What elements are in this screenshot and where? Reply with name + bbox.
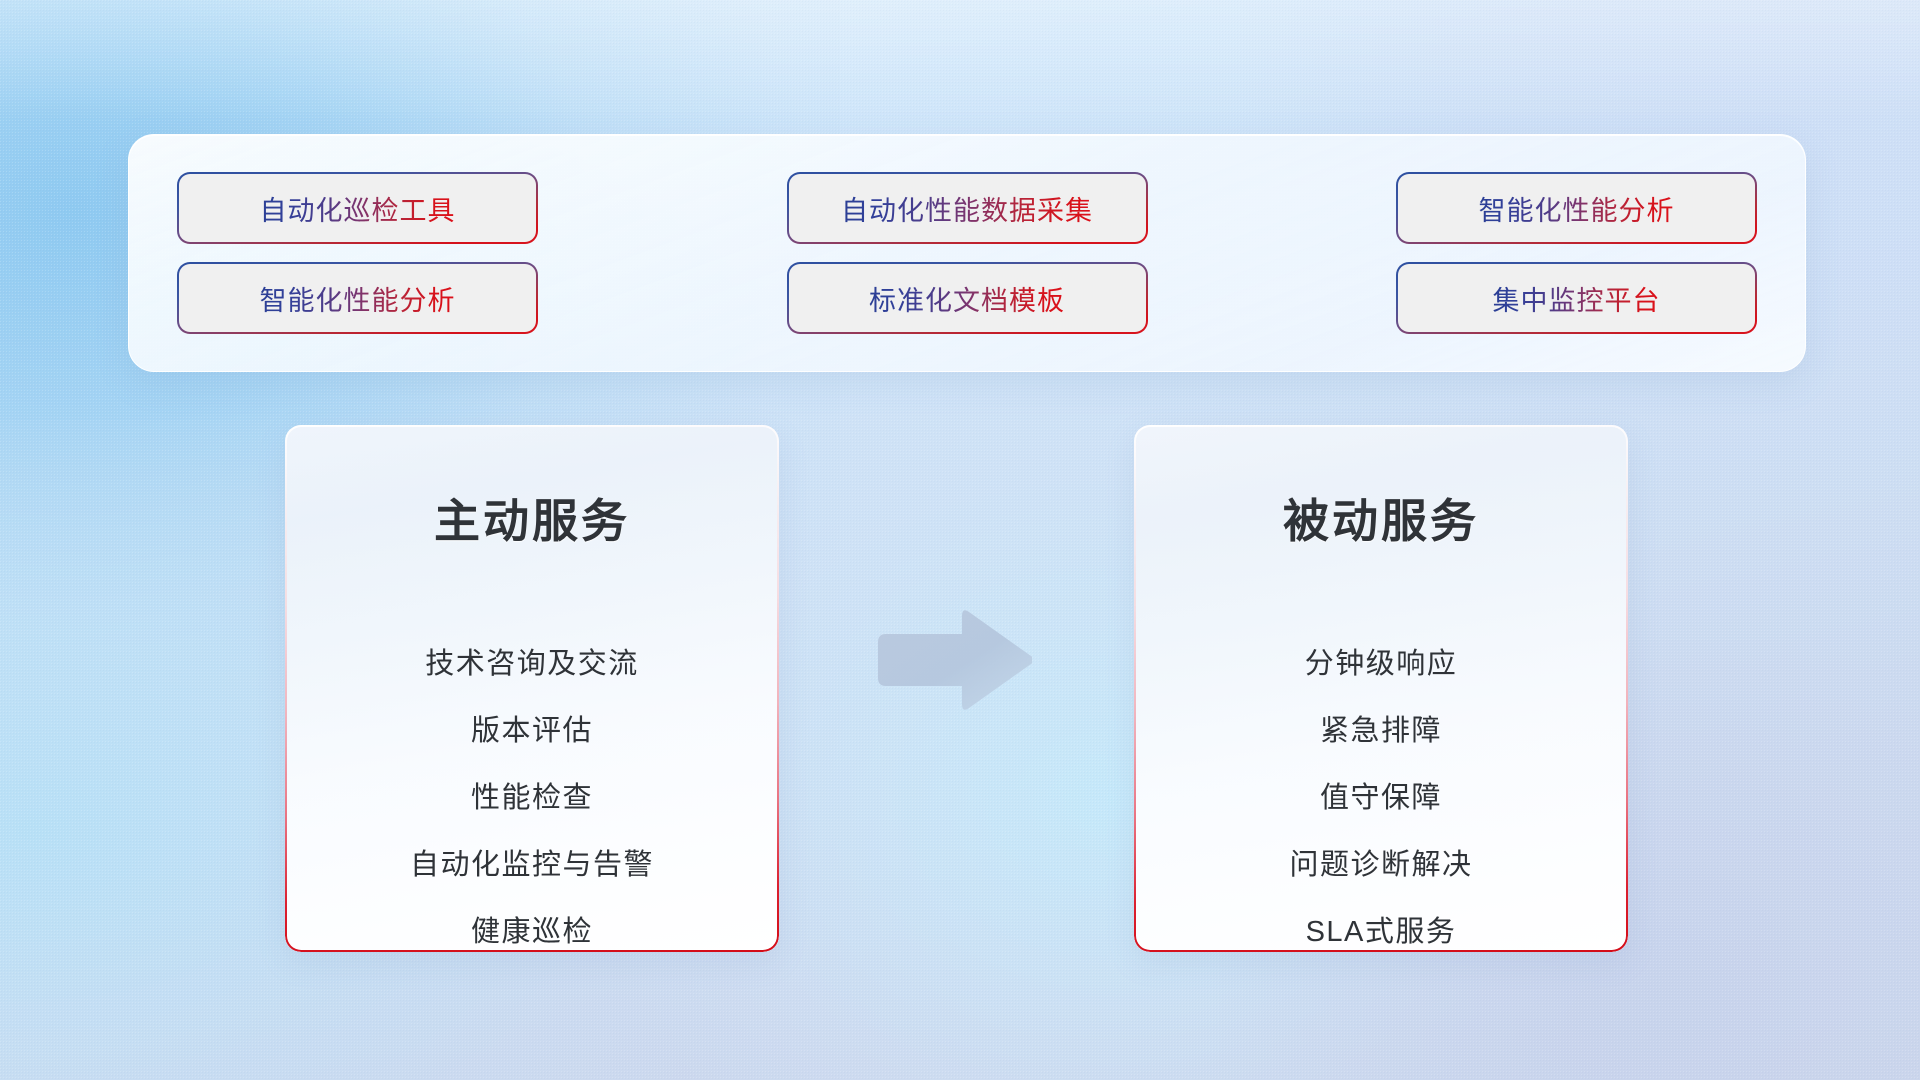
list-item: 分钟级响应 [1305,631,1458,698]
capability-pill-automated-performance-data-collection[interactable]: 自动化性能数据采集 [789,174,1146,242]
service-list-reactive: 分钟级响应 紧急排障 值守保障 问题诊断解决 SLA式服务 [1164,631,1598,952]
card-content: 被动服务 分钟级响应 紧急排障 值守保障 问题诊断解决 SLA式服务 [1134,425,1628,952]
list-item: 健康巡检 [471,899,593,952]
capability-pill-label: 集中监控平台 [1493,279,1661,318]
card-title-reactive: 被动服务 [1283,497,1479,547]
list-item: 问题诊断解决 [1289,832,1472,899]
capability-pill-label: 自动化性能数据采集 [841,189,1093,228]
service-list-proactive: 技术咨询及交流 版本评估 性能检查 自动化监控与告警 健康巡检 [315,631,749,952]
service-card-proactive: 主动服务 技术咨询及交流 版本评估 性能检查 自动化监控与告警 健康巡检 [285,425,779,952]
list-item: 自动化监控与告警 [410,832,654,899]
capability-pill-centralized-monitoring-platform[interactable]: 集中监控平台 [1398,264,1755,332]
arrow-right-icon [870,608,1032,720]
capability-pill-intelligent-performance-analysis-top[interactable]: 智能化性能分析 [1398,174,1755,242]
capability-row-1: 自动化巡检工具 自动化性能数据采集 智能化性能分析 [179,174,1755,242]
list-item: 技术咨询及交流 [425,631,639,698]
list-item: 版本评估 [471,698,593,765]
capability-pill-standardized-document-template[interactable]: 标准化文档模板 [789,264,1146,332]
card-title-proactive: 主动服务 [434,497,630,547]
capability-panel: 自动化巡检工具 自动化性能数据采集 智能化性能分析 智能化性能分析 标准化文档模… [128,134,1806,372]
service-card-reactive: 被动服务 分钟级响应 紧急排障 值守保障 问题诊断解决 SLA式服务 [1134,425,1628,952]
capability-pill-intelligent-performance-analysis-bottom[interactable]: 智能化性能分析 [179,264,536,332]
list-item: 值守保障 [1320,765,1442,832]
capability-pill-label: 智能化性能分析 [1479,189,1675,228]
card-content: 主动服务 技术咨询及交流 版本评估 性能检查 自动化监控与告警 健康巡检 [285,425,779,952]
list-item: SLA式服务 [1306,899,1457,952]
capability-pill-label: 标准化文档模板 [869,279,1065,318]
capability-pill-automated-inspection-tool[interactable]: 自动化巡检工具 [179,174,536,242]
capability-row-2: 智能化性能分析 标准化文档模板 集中监控平台 [179,264,1755,332]
list-item: 紧急排障 [1320,698,1442,765]
capability-pill-label: 智能化性能分析 [260,279,456,318]
list-item: 性能检查 [471,765,593,832]
capability-pill-label: 自动化巡检工具 [260,189,456,228]
